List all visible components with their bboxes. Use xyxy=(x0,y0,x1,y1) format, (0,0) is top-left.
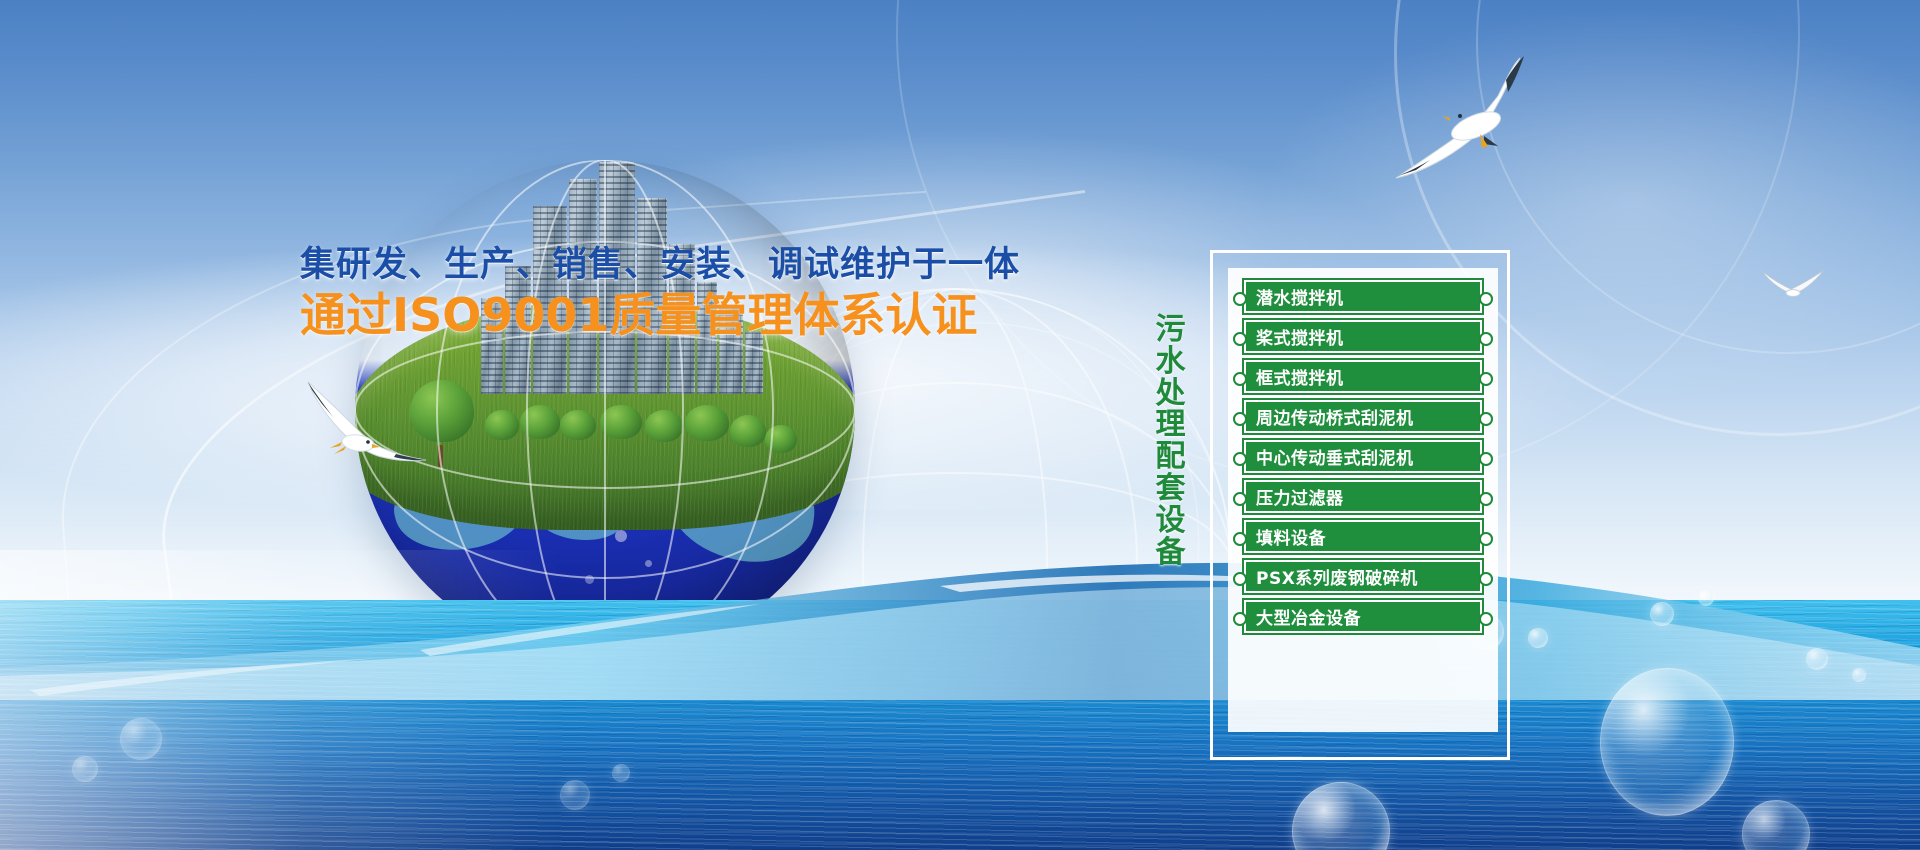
water-section xyxy=(0,550,1920,850)
product-item-label: 填料设备 xyxy=(1244,524,1326,549)
decorative-arc xyxy=(1476,0,1920,354)
headline-line-1: 集研发、生产、销售、安装、调试维护于一体 xyxy=(300,248,980,283)
vertical-label-char: 处 xyxy=(1148,378,1194,410)
product-item-label: 中心传动垂式刮泥机 xyxy=(1244,444,1414,469)
product-item-label: PSX系列废钢破碎机 xyxy=(1244,564,1418,589)
water-bubble xyxy=(612,764,630,782)
product-item-psx-scrap-shredder[interactable]: PSX系列废钢破碎机 xyxy=(1242,558,1484,595)
connector-dot-left xyxy=(1233,452,1247,466)
water-bubble xyxy=(1698,590,1714,606)
connector-dot-right xyxy=(1479,532,1493,546)
product-item-label: 大型冶金设备 xyxy=(1244,604,1361,629)
water-bubble xyxy=(120,718,162,760)
product-item-label: 潜水搅拌机 xyxy=(1244,284,1344,309)
connector-dot-right xyxy=(1479,452,1493,466)
vertical-label-char: 备 xyxy=(1148,537,1194,569)
product-item-list: 潜水搅拌机 桨式搅拌机 框式搅拌机 周边传动桥式刮泥机 xyxy=(1242,278,1484,635)
product-item-large-metallurgical-equipment[interactable]: 大型冶金设备 xyxy=(1242,598,1484,635)
vertical-label-char: 设 xyxy=(1148,505,1194,537)
product-item-pressure-filter[interactable]: 压力过滤器 xyxy=(1242,478,1484,515)
water-bubble xyxy=(72,756,98,782)
connector-dot-left xyxy=(1233,612,1247,626)
headline-block: 集研发、生产、销售、安装、调试维护于一体 通过ISO9001质量管理体系认证 xyxy=(300,248,980,338)
product-item-label: 压力过滤器 xyxy=(1244,484,1344,509)
water-bubble xyxy=(1528,628,1548,648)
connector-dot-left xyxy=(1233,572,1247,586)
connector-dot-left xyxy=(1233,292,1247,306)
connector-dot-right xyxy=(1479,492,1493,506)
seagull-icon xyxy=(1760,265,1828,309)
panel-inner-card: 潜水搅拌机 桨式搅拌机 框式搅拌机 周边传动桥式刮泥机 xyxy=(1228,268,1498,732)
product-item-label: 框式搅拌机 xyxy=(1244,364,1344,389)
connector-dot-right xyxy=(1479,572,1493,586)
vertical-label-char: 水 xyxy=(1148,346,1194,378)
product-item-paddle-mixer[interactable]: 桨式搅拌机 xyxy=(1242,318,1484,355)
banner-stage: 集研发、生产、销售、安装、调试维护于一体 通过ISO9001质量管理体系认证 xyxy=(0,0,1920,850)
connector-dot-right xyxy=(1479,612,1493,626)
product-item-packing-equipment[interactable]: 填料设备 xyxy=(1242,518,1484,555)
product-item-submersible-mixer[interactable]: 潜水搅拌机 xyxy=(1242,278,1484,315)
connector-dot-left xyxy=(1233,412,1247,426)
connector-dot-left xyxy=(1233,372,1247,386)
vertical-label-char: 套 xyxy=(1148,473,1194,505)
product-item-label: 周边传动桥式刮泥机 xyxy=(1244,404,1414,429)
vertical-label-char: 配 xyxy=(1148,441,1194,473)
product-item-frame-mixer[interactable]: 框式搅拌机 xyxy=(1242,358,1484,395)
connector-dot-left xyxy=(1233,532,1247,546)
connector-dot-right xyxy=(1479,372,1493,386)
product-panel: 污 水 处 理 配 套 设 备 潜水搅拌机 桨式搅拌机 xyxy=(1210,250,1510,760)
water-bubble xyxy=(1650,602,1674,626)
water-bubble xyxy=(1806,648,1828,670)
connector-dot-right xyxy=(1479,292,1493,306)
product-item-label: 桨式搅拌机 xyxy=(1244,324,1344,349)
vertical-label-char: 污 xyxy=(1148,314,1194,346)
seagull-icon xyxy=(1380,50,1550,190)
water-bubble xyxy=(560,780,590,810)
connector-dot-left xyxy=(1233,492,1247,506)
connector-dot-left xyxy=(1233,332,1247,346)
water-bubble xyxy=(1600,668,1734,816)
panel-vertical-label: 污 水 处 理 配 套 设 备 xyxy=(1148,314,1194,568)
headline-line-2: 通过ISO9001质量管理体系认证 xyxy=(300,292,980,338)
connector-dot-right xyxy=(1479,332,1493,346)
water-bubble xyxy=(1852,668,1866,682)
product-item-peripheral-drive-bridge-scraper[interactable]: 周边传动桥式刮泥机 xyxy=(1242,398,1484,435)
vertical-label-char: 理 xyxy=(1148,409,1194,441)
connector-dot-right xyxy=(1479,412,1493,426)
product-item-center-drive-vertical-scraper[interactable]: 中心传动垂式刮泥机 xyxy=(1242,438,1484,475)
